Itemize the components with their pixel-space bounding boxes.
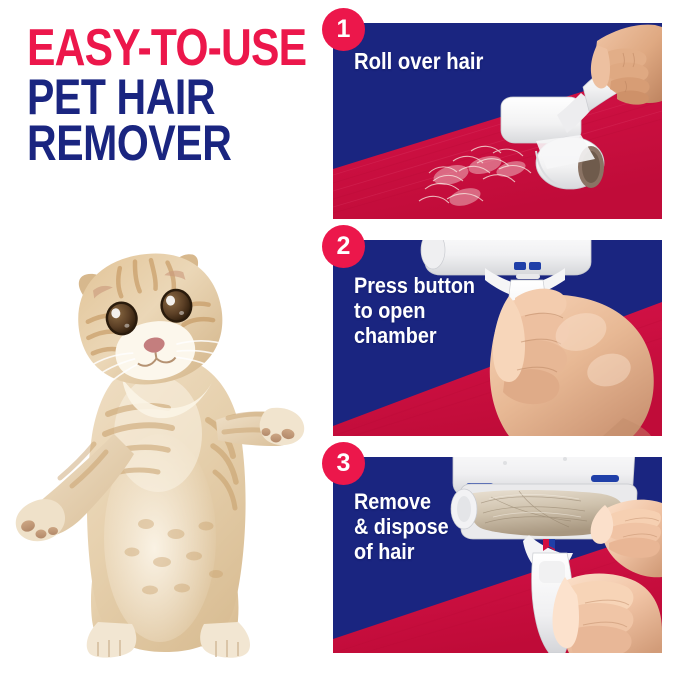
headline-line-3: REMOVER (27, 121, 273, 165)
step-1-number-badge: 1 (322, 8, 365, 51)
step-1-caption: Roll over hair (354, 49, 483, 75)
headline-line-1: EASY-TO-USE (27, 26, 273, 72)
step-2-caption: Press button to open chamber (354, 273, 475, 349)
page-title: EASY-TO-USE PET HAIR REMOVER (27, 26, 327, 165)
step-3-number: 3 (337, 451, 351, 476)
step-2-number: 2 (337, 234, 351, 259)
product-infographic: EASY-TO-USE PET HAIR REMOVER (0, 0, 679, 679)
step-3-caption: Remove & dispose of hair (354, 489, 449, 565)
cat-illustration (10, 238, 320, 658)
step-panel-3: Remove & dispose of hair 3 (333, 457, 662, 653)
step-1-number: 1 (337, 17, 351, 42)
step-2-number-badge: 2 (322, 225, 365, 268)
step-panel-1: Roll over hair 1 (333, 23, 662, 219)
step-panel-2: Press button to open chamber 2 (333, 240, 662, 436)
headline-line-2: PET HAIR (27, 75, 273, 119)
steps-column: Roll over hair 1 (333, 0, 663, 679)
hero-cat-image (10, 238, 320, 658)
step-3-number-badge: 3 (322, 442, 365, 485)
left-column: EASY-TO-USE PET HAIR REMOVER (0, 0, 325, 679)
